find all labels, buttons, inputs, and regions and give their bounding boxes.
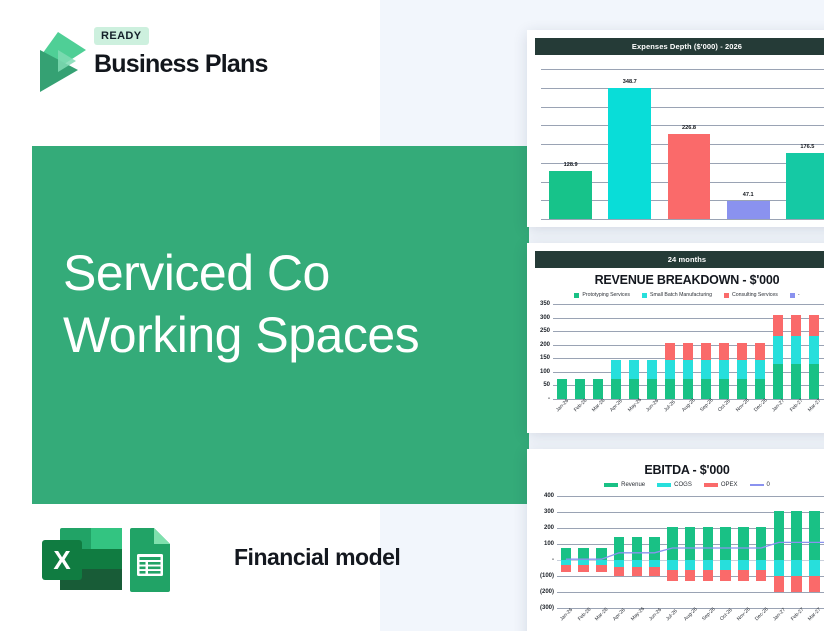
bar-segment: [809, 364, 820, 399]
ebitda-line-series: [557, 496, 824, 608]
bar-segment: [629, 360, 640, 379]
y-axis-tick: -: [548, 396, 550, 402]
y-axis-tick: 100: [540, 369, 550, 375]
bar-segment: [629, 379, 640, 399]
x-axis-tick: Feb-26: [577, 607, 592, 622]
bar-segment: [647, 360, 658, 379]
bar-slot: Aug-26: [679, 304, 697, 399]
bar-slot: 47.1: [719, 69, 778, 219]
bar-slot: May-26: [625, 304, 643, 399]
bar-segment: [683, 379, 694, 399]
slide-root: READY Business Plans Serviced Co Working…: [0, 0, 824, 631]
bar-value-label: 47.1: [719, 192, 778, 198]
revenue-legend: Prototyping ServicesSmall Batch Manufact…: [527, 292, 824, 298]
bar-segment: [683, 343, 694, 359]
bar-slot: Mar-27: [805, 304, 823, 399]
legend-swatch: [750, 484, 764, 486]
y-axis-tick: (300): [540, 605, 554, 611]
x-axis-tick: Apr-26: [609, 398, 624, 413]
y-axis-tick: 200: [544, 525, 554, 531]
bar-segment: [701, 360, 712, 379]
legend-swatch: [642, 293, 647, 298]
x-axis-tick: Feb-26: [573, 398, 588, 413]
legend-label: Small Batch Manufacturing: [650, 292, 712, 298]
bar-segment: [791, 336, 802, 365]
bar-segment: [755, 360, 766, 379]
x-axis-tick: Jan-27: [771, 398, 786, 413]
hero-panel: Serviced Co Working Spaces: [32, 146, 529, 504]
bar-segment: [755, 379, 766, 399]
ebitda-plot-area: 400300200100-(100)(200)(300)Jan-26Feb-26…: [557, 496, 824, 608]
bar: [786, 153, 824, 219]
bar-value-label: 128.9: [541, 162, 600, 168]
y-axis-tick: (100): [540, 573, 554, 579]
bar-segment: [719, 343, 730, 359]
bar-segment: [665, 343, 676, 359]
bar-segment: [665, 379, 676, 399]
bar: [549, 171, 592, 219]
bar-segment: [809, 315, 820, 335]
bar-slot: Jun-26: [643, 304, 661, 399]
bar-slot: Jul-26: [661, 304, 679, 399]
bar-value-label: 176.5: [778, 144, 824, 150]
x-axis-tick: Jan-27: [772, 607, 787, 622]
legend-label: -: [798, 292, 800, 298]
x-axis-tick: Jul-26: [665, 608, 679, 622]
y-axis-tick: 200: [540, 342, 550, 348]
ebitda-legend: RevenueCOGSOPEX0: [527, 482, 824, 488]
bar-segment: [791, 364, 802, 399]
bar-segment: [773, 315, 784, 335]
bar-slot: Jan-26: [553, 304, 571, 399]
x-axis-tick: Jul-26: [663, 399, 677, 413]
x-axis-tick: Jun-26: [645, 398, 660, 413]
chart-card-revenue: 24 months REVENUE BREAKDOWN - $'000 Prot…: [527, 243, 824, 433]
expenses-chart-title: Expenses Depth ($'000) - 2026: [535, 38, 824, 55]
y-axis-tick: 50: [543, 382, 550, 388]
legend-item: -: [790, 292, 800, 298]
legend-swatch: [604, 483, 618, 487]
bar-segment: [611, 360, 622, 379]
y-axis-tick: -: [552, 557, 554, 563]
bar-segment: [809, 336, 820, 365]
legend-item: Revenue: [604, 482, 645, 488]
brand-block: READY Business Plans: [26, 26, 356, 100]
legend-item: Prototyping Services: [574, 292, 630, 298]
x-axis-tick: Oct-26: [719, 607, 734, 622]
legend-item: Small Batch Manufacturing: [642, 292, 712, 298]
revenue-months-badge: 24 months: [535, 251, 824, 268]
bar-segment: [719, 379, 730, 399]
x-axis-tick: Feb-27: [790, 607, 805, 622]
bar-segment: [647, 379, 658, 399]
bar: [727, 201, 770, 219]
x-axis-tick: Jan-26: [555, 398, 570, 413]
axis-baseline: [541, 219, 824, 220]
bar-slot: Apr-26: [607, 304, 625, 399]
x-axis-tick: Feb-27: [789, 398, 804, 413]
bar-slot: 176.5: [778, 69, 824, 219]
legend-item: OPEX: [704, 482, 738, 488]
y-axis-tick: 100: [544, 541, 554, 547]
bar-segment: [755, 343, 766, 359]
bar-segment: [719, 360, 730, 379]
legend-label: Revenue: [621, 482, 645, 488]
bar-segment: [773, 364, 784, 399]
ebitda-chart-heading: EBITDA - $'000: [527, 463, 824, 477]
legend-item: 0: [750, 482, 770, 488]
legend-label: Prototyping Services: [582, 292, 630, 298]
bar: [668, 134, 711, 219]
play-triangles-logo-icon: [26, 30, 88, 94]
revenue-plot-area: -50100150200250300350Jan-26Feb-26Mar-26A…: [553, 304, 824, 399]
x-axis-tick: Jun-26: [648, 607, 663, 622]
bar-slot: 348.7: [600, 69, 659, 219]
chart-card-ebitda: EBITDA - $'000 RevenueCOGSOPEX0 40030020…: [527, 449, 824, 631]
y-axis-tick: 250: [540, 328, 550, 334]
bar-slot: 226.8: [659, 69, 718, 219]
bar-slot: Sep-26: [697, 304, 715, 399]
legend-label: COGS: [674, 482, 692, 488]
bar-segment: [737, 343, 748, 359]
ready-badge: READY: [94, 27, 149, 45]
bar-group: Jan-26Feb-26Mar-26Apr-26May-26Jun-26Jul-…: [553, 304, 824, 399]
bar-slot: Oct-26: [715, 304, 733, 399]
bar-segment: [773, 336, 784, 365]
bar-slot: Mar-26: [589, 304, 607, 399]
legend-item: COGS: [657, 482, 692, 488]
x-axis-tick: Mar-26: [591, 398, 606, 413]
x-axis-tick: Jan-26: [559, 607, 574, 622]
legend-swatch: [574, 293, 579, 298]
bar-segment: [575, 379, 586, 399]
y-axis-tick: 400: [544, 493, 554, 499]
x-axis-tick: Mar-27: [807, 607, 822, 622]
legend-label: OPEX: [721, 482, 738, 488]
bar-segment: [737, 379, 748, 399]
bar-segment: [593, 379, 604, 399]
legend-item: Consulting Services: [724, 292, 778, 298]
x-axis-tick: Apr-26: [612, 607, 627, 622]
bar-slot: 128.9: [541, 69, 600, 219]
x-axis-tick: Mar-26: [594, 607, 609, 622]
bar-segment: [701, 343, 712, 359]
y-axis-tick: (200): [540, 589, 554, 595]
page-title: Serviced Co Working Spaces: [63, 242, 419, 366]
financial-model-label: Financial model: [234, 544, 400, 571]
revenue-chart-heading: REVENUE BREAKDOWN - $'000: [527, 273, 824, 287]
format-icons: X: [32, 522, 172, 596]
bar-value-label: 226.8: [659, 125, 718, 131]
bar-slot: Feb-27: [787, 304, 805, 399]
bar-group: 128.9348.7226.847.1176.5: [541, 69, 824, 219]
legend-swatch: [724, 293, 729, 298]
bar-slot: Jan-27: [769, 304, 787, 399]
x-axis-tick: Oct-26: [717, 398, 732, 413]
legend-swatch: [704, 483, 718, 487]
bar-segment: [701, 379, 712, 399]
bar: [608, 88, 651, 219]
y-axis-tick: 300: [544, 509, 554, 515]
bar-segment: [665, 360, 676, 379]
bar-slot: Dec-26: [751, 304, 769, 399]
legend-label: 0: [767, 482, 770, 488]
bar-slot: Nov-26: [733, 304, 751, 399]
bar-value-label: 348.7: [600, 79, 659, 85]
legend-swatch: [790, 293, 795, 298]
brand-name: Business Plans: [94, 50, 268, 79]
bar-segment: [611, 379, 622, 399]
legend-label: Consulting Services: [732, 292, 778, 298]
chart-card-expenses: Expenses Depth ($'000) - 2026 128.9348.7…: [527, 30, 824, 227]
bar-segment: [557, 379, 568, 399]
svg-text:X: X: [53, 545, 71, 575]
y-axis-tick: 150: [540, 355, 550, 361]
bar-segment: [683, 360, 694, 379]
legend-swatch: [657, 483, 671, 487]
y-axis-tick: 300: [540, 315, 550, 321]
bar-segment: [737, 360, 748, 379]
expenses-plot-area: 128.9348.7226.847.1176.5: [541, 69, 824, 219]
x-axis-tick: Mar-27: [807, 398, 822, 413]
bar-segment: [791, 315, 802, 335]
bar-slot: Feb-26: [571, 304, 589, 399]
brand-text: READY Business Plans: [94, 26, 268, 79]
y-axis-tick: 350: [540, 301, 550, 307]
